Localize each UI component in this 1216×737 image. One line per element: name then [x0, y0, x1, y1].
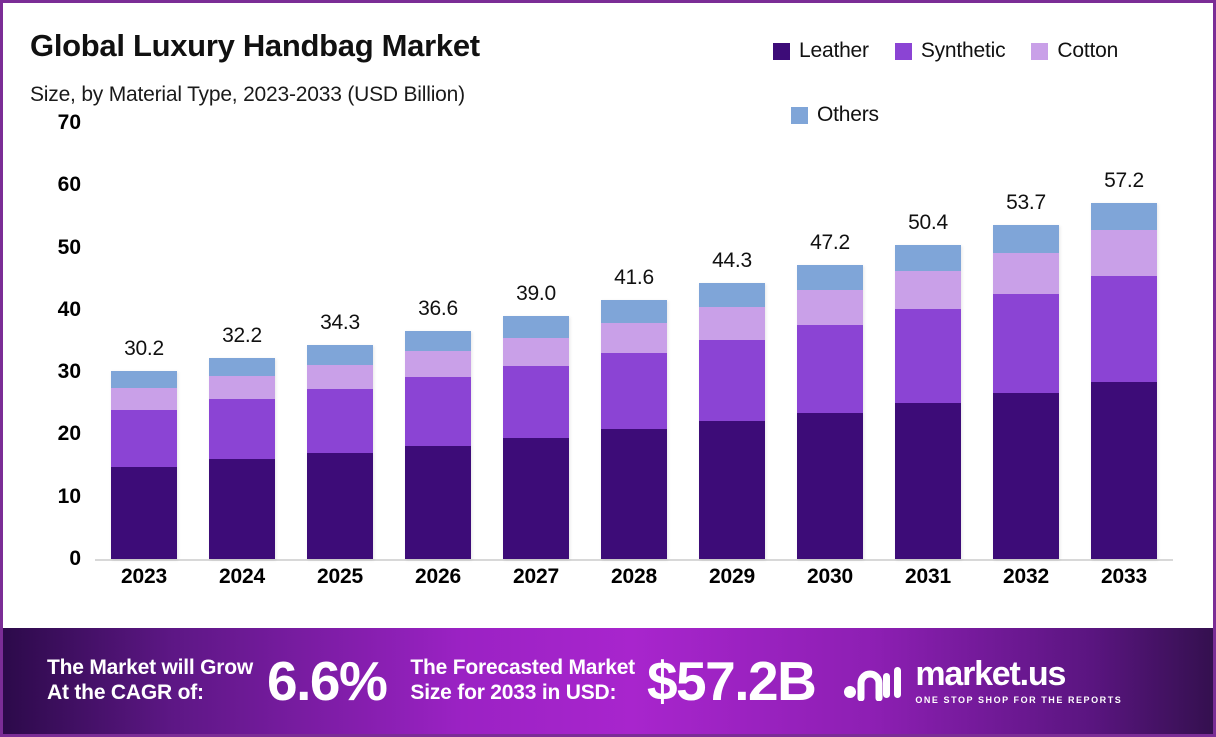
bar-segment-synthetic[interactable] [503, 366, 569, 438]
bar-segment-cotton[interactable] [601, 323, 667, 353]
bar-segment-others[interactable] [699, 283, 765, 307]
bar-group[interactable]: 30.2 [95, 123, 193, 559]
bar-segment-synthetic[interactable] [699, 340, 765, 422]
legend-item-cotton[interactable]: Cotton [1031, 39, 1118, 63]
legend-label-leather: Leather [799, 39, 869, 63]
bar-segment-others[interactable] [993, 225, 1059, 253]
bar-segment-cotton[interactable] [993, 253, 1059, 294]
bar-stack[interactable] [307, 345, 373, 559]
bar-series-container: 30.232.234.336.639.041.644.347.250.453.7… [95, 123, 1173, 559]
bar-segment-synthetic[interactable] [307, 389, 373, 453]
bar-segment-others[interactable] [601, 300, 667, 323]
y-axis-tick: 10 [58, 485, 81, 509]
y-axis-tick: 0 [69, 547, 81, 571]
legend-item-leather[interactable]: Leather [773, 39, 869, 63]
y-axis-tick: 30 [58, 360, 81, 384]
bar-group[interactable]: 53.7 [977, 123, 1075, 559]
bar-segment-cotton[interactable] [699, 307, 765, 339]
bar-group[interactable]: 47.2 [781, 123, 879, 559]
legend-row-primary: Leather Synthetic Cotton [773, 39, 1203, 63]
bar-segment-others[interactable] [307, 345, 373, 364]
bar-segment-cotton[interactable] [503, 338, 569, 366]
bar-stack[interactable] [111, 371, 177, 559]
forecast-value: $57.2B [647, 654, 815, 709]
bar-stack[interactable] [699, 283, 765, 559]
chart-legend: Leather Synthetic Cotton Others [773, 39, 1203, 127]
bar-value-label: 30.2 [95, 337, 193, 361]
bar-stack[interactable] [405, 331, 471, 559]
legend-swatch-icon-synthetic [895, 43, 912, 60]
bar-segment-cotton[interactable] [209, 376, 275, 399]
y-axis: 010203040506070 [3, 123, 93, 563]
x-axis-tick: 2025 [291, 565, 389, 605]
bar-value-label: 36.6 [389, 297, 487, 321]
bar-group[interactable]: 44.3 [683, 123, 781, 559]
bar-group[interactable]: 57.2 [1075, 123, 1173, 559]
brand-logo[interactable]: market.us ONE STOP SHOP FOR THE REPORTS [843, 657, 1122, 705]
bar-segment-synthetic[interactable] [895, 309, 961, 402]
bar-stack[interactable] [993, 225, 1059, 559]
legend-swatch-icon-cotton [1031, 43, 1048, 60]
bar-segment-synthetic[interactable] [111, 410, 177, 467]
bar-segment-cotton[interactable] [797, 290, 863, 325]
cagr-caption-line1: The Market will Grow [47, 656, 253, 681]
bar-segment-synthetic[interactable] [405, 377, 471, 446]
bar-segment-leather[interactable] [895, 403, 961, 559]
bar-segment-others[interactable] [209, 358, 275, 375]
logo-tagline: ONE STOP SHOP FOR THE REPORTS [915, 695, 1122, 705]
bar-segment-synthetic[interactable] [993, 294, 1059, 394]
bar-segment-others[interactable] [797, 265, 863, 290]
legend-swatch-icon-leather [773, 43, 790, 60]
bar-segment-leather[interactable] [601, 429, 667, 559]
bar-segment-synthetic[interactable] [209, 399, 275, 459]
bar-stack[interactable] [1091, 203, 1157, 559]
bar-value-label: 57.2 [1075, 169, 1173, 193]
y-axis-tick: 40 [58, 298, 81, 322]
y-axis-tick: 50 [58, 236, 81, 260]
bar-segment-cotton[interactable] [405, 351, 471, 377]
x-axis-tick: 2029 [683, 565, 781, 605]
bar-segment-leather[interactable] [993, 393, 1059, 559]
forecast-caption-line2: Size for 2033 in USD: [410, 681, 635, 706]
bar-value-label: 47.2 [781, 231, 879, 255]
x-axis-tick: 2026 [389, 565, 487, 605]
cagr-value: 6.6% [267, 654, 386, 709]
bar-segment-others[interactable] [1091, 203, 1157, 230]
y-axis-tick: 20 [58, 422, 81, 446]
bar-segment-leather[interactable] [209, 459, 275, 559]
forecast-block: The Forecasted Market Size for 2033 in U… [410, 654, 815, 709]
bar-value-label: 32.2 [193, 324, 291, 348]
bar-segment-synthetic[interactable] [1091, 276, 1157, 382]
cagr-caption: The Market will Grow At the CAGR of: [47, 656, 253, 706]
bar-segment-synthetic[interactable] [601, 353, 667, 430]
bar-segment-others[interactable] [111, 371, 177, 388]
bar-group[interactable]: 36.6 [389, 123, 487, 559]
chart-plot-area: 010203040506070 30.232.234.336.639.041.6… [3, 123, 1213, 618]
bar-value-label: 34.3 [291, 311, 389, 335]
bar-segment-others[interactable] [405, 331, 471, 351]
bar-segment-leather[interactable] [405, 446, 471, 559]
x-axis-tick: 2030 [781, 565, 879, 605]
market-us-logo-icon [843, 661, 905, 701]
bar-segment-cotton[interactable] [895, 271, 961, 309]
bar-value-label: 50.4 [879, 211, 977, 235]
x-axis-tick: 2031 [879, 565, 977, 605]
legend-label-synthetic: Synthetic [921, 39, 1006, 63]
summary-banner: The Market will Grow At the CAGR of: 6.6… [3, 628, 1213, 734]
bar-segment-cotton[interactable] [307, 365, 373, 389]
y-axis-tick: 60 [58, 173, 81, 197]
x-axis-tick: 2032 [977, 565, 1075, 605]
bar-segment-leather[interactable] [699, 421, 765, 559]
bar-segment-others[interactable] [895, 245, 961, 271]
x-axis-tick: 2024 [193, 565, 291, 605]
bar-value-label: 44.3 [683, 249, 781, 273]
bar-stack[interactable] [503, 316, 569, 559]
forecast-caption: The Forecasted Market Size for 2033 in U… [410, 656, 635, 706]
bar-segment-leather[interactable] [797, 413, 863, 559]
legend-item-synthetic[interactable]: Synthetic [895, 39, 1006, 63]
x-axis: 2023202420252026202720282029203020312032… [95, 565, 1173, 605]
bar-segment-synthetic[interactable] [797, 325, 863, 413]
x-axis-tick: 2033 [1075, 565, 1173, 605]
bar-segment-leather[interactable] [111, 467, 177, 559]
legend-label-cotton: Cotton [1057, 39, 1118, 63]
page-subtitle: Size, by Material Type, 2023-2033 (USD B… [30, 83, 465, 107]
bar-segment-leather[interactable] [307, 453, 373, 559]
bar-segment-cotton[interactable] [111, 388, 177, 410]
bar-segment-leather[interactable] [503, 438, 569, 559]
bar-stack[interactable] [209, 358, 275, 559]
bar-value-label: 39.0 [487, 282, 585, 306]
y-axis-tick: 70 [58, 111, 81, 135]
bar-group[interactable]: 34.3 [291, 123, 389, 559]
chart-infographic: Global Luxury Handbag Market Size, by Ma… [0, 0, 1216, 737]
bar-stack[interactable] [797, 265, 863, 559]
x-axis-tick: 2023 [95, 565, 193, 605]
bar-group[interactable]: 39.0 [487, 123, 585, 559]
bar-stack[interactable] [895, 245, 961, 559]
cagr-block: The Market will Grow At the CAGR of: 6.6… [47, 654, 386, 709]
bar-group[interactable]: 50.4 [879, 123, 977, 559]
forecast-caption-line1: The Forecasted Market [410, 656, 635, 681]
bar-segment-cotton[interactable] [1091, 230, 1157, 276]
legend-swatch-icon-others [791, 107, 808, 124]
bar-group[interactable]: 32.2 [193, 123, 291, 559]
bar-segment-leather[interactable] [1091, 382, 1157, 560]
bar-group[interactable]: 41.6 [585, 123, 683, 559]
cagr-caption-line2: At the CAGR of: [47, 681, 253, 706]
x-axis-tick: 2027 [487, 565, 585, 605]
bar-segment-others[interactable] [503, 316, 569, 338]
page-title: Global Luxury Handbag Market [30, 28, 480, 64]
x-axis-line [95, 559, 1173, 561]
bar-value-label: 41.6 [585, 266, 683, 290]
logo-text-wrap: market.us ONE STOP SHOP FOR THE REPORTS [915, 657, 1122, 705]
bar-stack[interactable] [601, 300, 667, 559]
bar-value-label: 53.7 [977, 191, 1075, 215]
x-axis-tick: 2028 [585, 565, 683, 605]
logo-wordmark: market.us [915, 657, 1122, 691]
